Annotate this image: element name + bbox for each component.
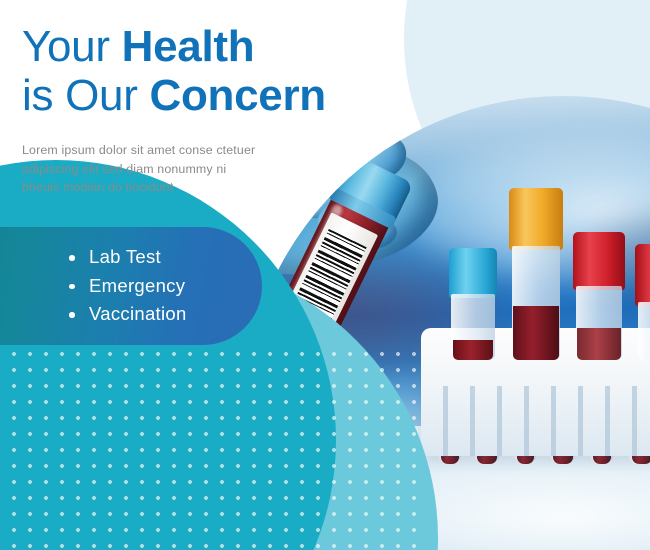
vial-cap — [573, 232, 625, 290]
vial-fill — [453, 340, 493, 360]
vial-fill — [577, 328, 621, 360]
body-copy-line-1: Lorem ipsum dolor sit amet conse ctetuer — [22, 141, 297, 160]
body-copy-line-3: bheuis modian do tincidunt — [22, 178, 297, 197]
headline-your: Your — [22, 22, 122, 71]
vial-cap — [509, 188, 563, 250]
body-copy: Lorem ipsum dolor sit amet conse ctetuer… — [22, 141, 297, 197]
service-item-vaccination[interactable]: Vaccination — [68, 300, 268, 329]
health-promo-banner: Lab Test Emergency Vaccination Your Heal… — [0, 0, 650, 550]
vial-yellow — [509, 188, 563, 360]
headline-health: Health — [122, 22, 255, 71]
headline: Your Health is Our Concern — [22, 22, 422, 120]
vial-cap — [449, 248, 497, 298]
vial-barrel — [638, 302, 650, 360]
headline-line-2: is Our Concern — [22, 71, 422, 120]
body-copy-line-2: adipiscing elit sed diam nonummy ni — [22, 160, 297, 179]
headline-is-our: is Our — [22, 71, 149, 120]
vial-cyan — [449, 248, 497, 360]
headline-line-1: Your Health — [22, 22, 422, 71]
services-list: Lab Test Emergency Vaccination — [68, 243, 268, 329]
rack-slots — [421, 386, 650, 456]
vial-red-2 — [635, 244, 650, 360]
vial-red — [573, 232, 625, 360]
vial-fill — [513, 306, 558, 360]
service-item-lab-test[interactable]: Lab Test — [68, 243, 268, 272]
service-item-emergency[interactable]: Emergency — [68, 272, 268, 301]
headline-concern: Concern — [149, 71, 325, 120]
vial-cap — [635, 244, 650, 306]
